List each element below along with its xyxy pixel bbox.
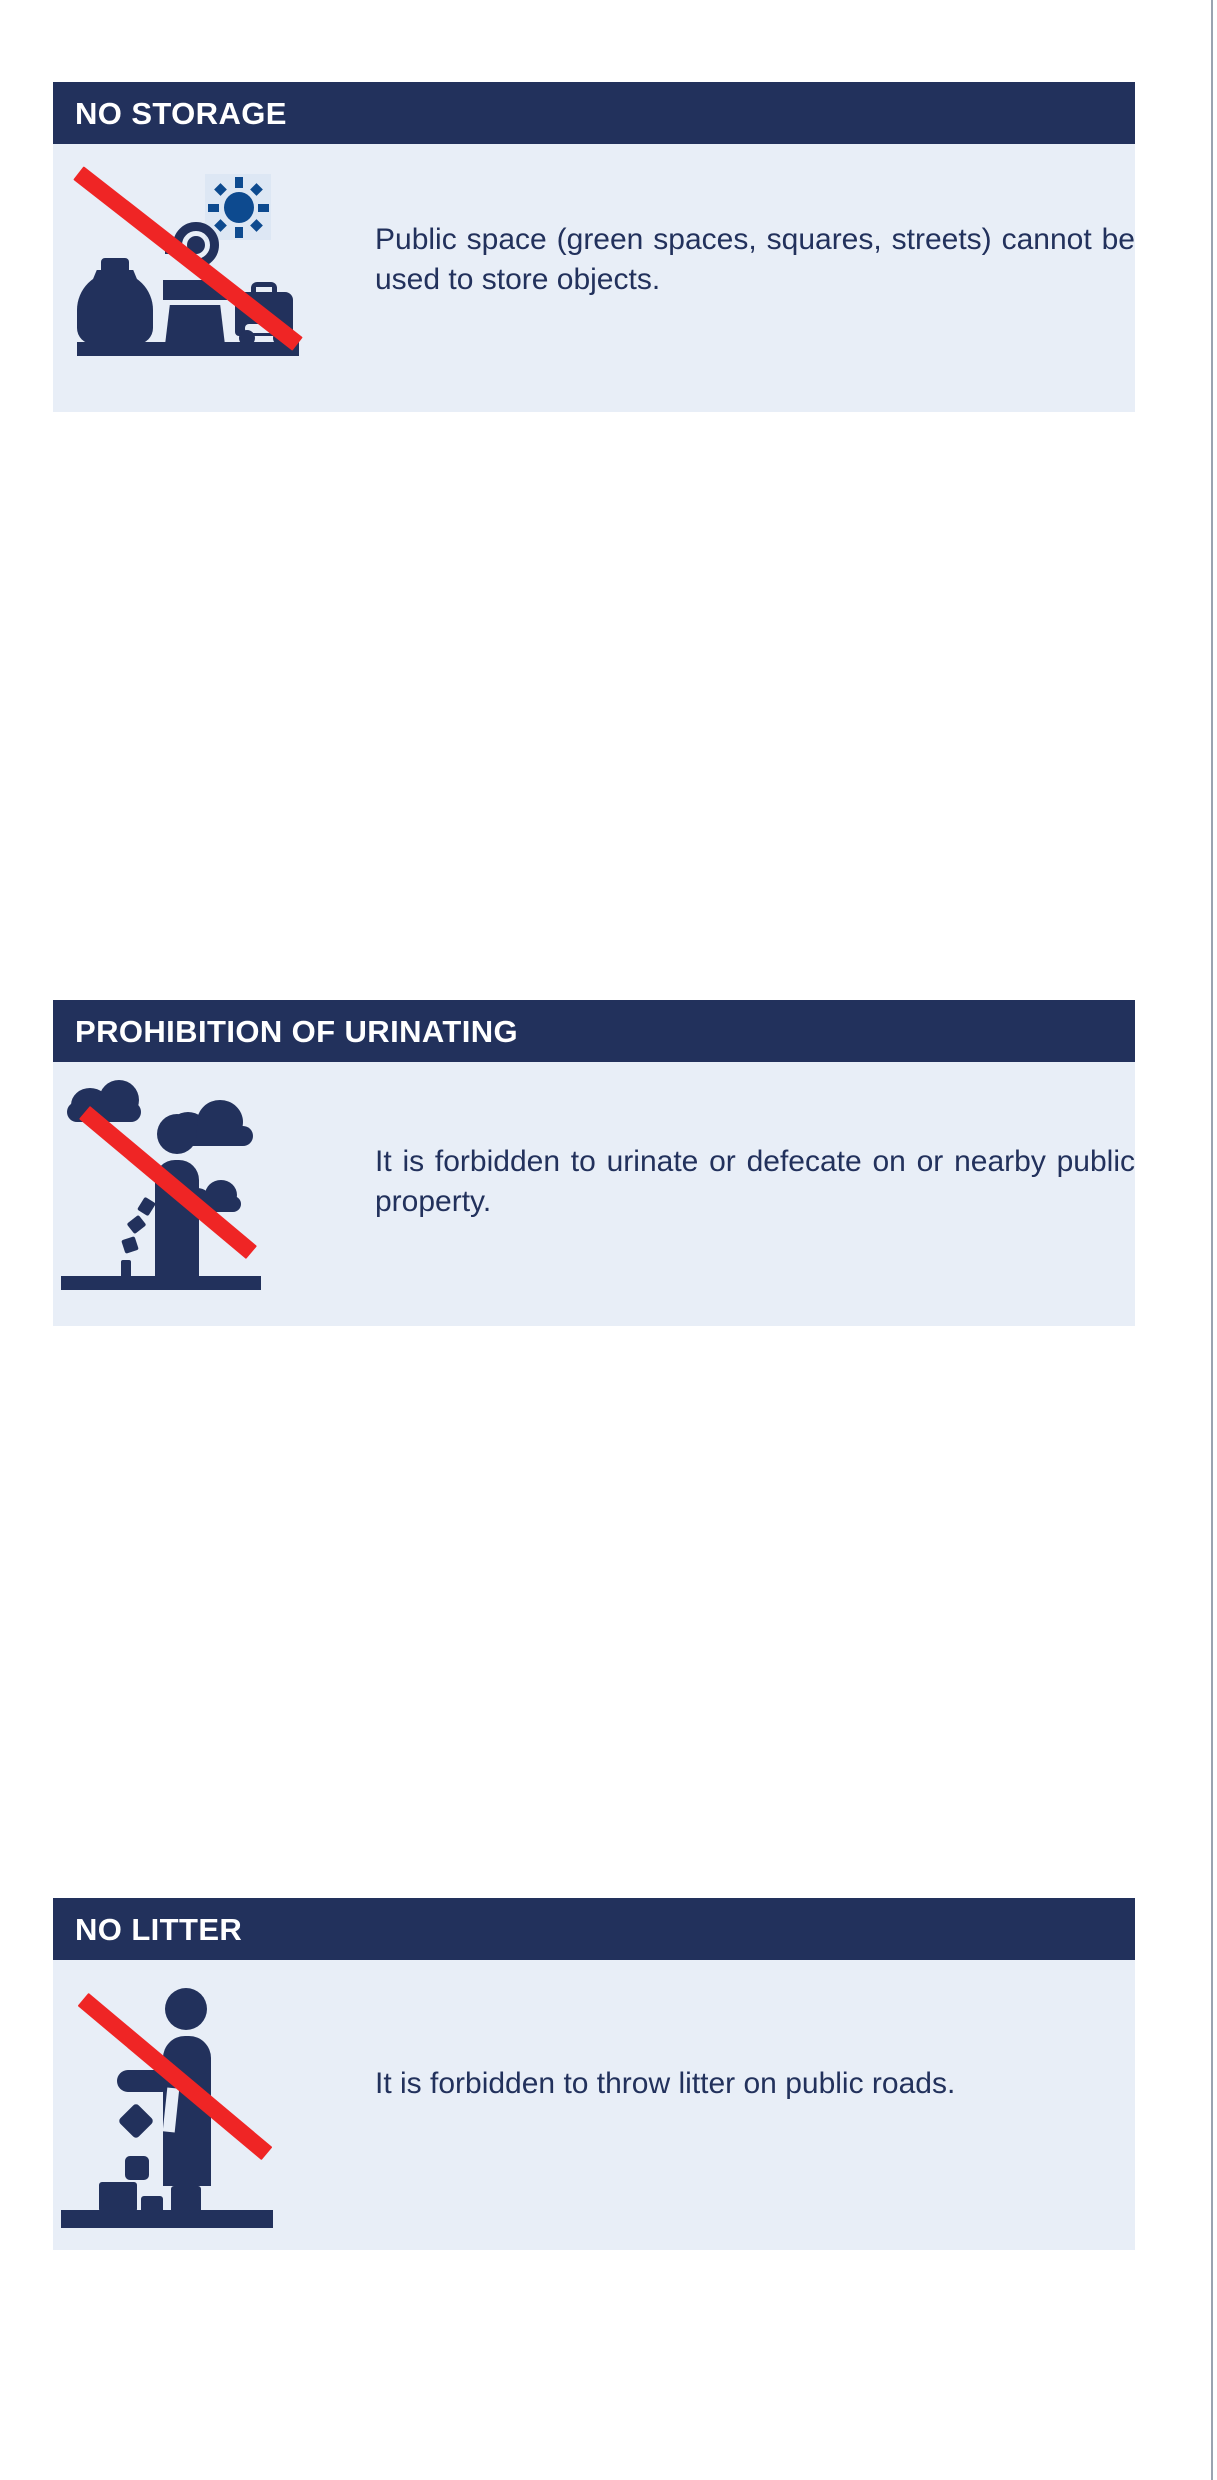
sun-core-icon bbox=[224, 192, 254, 223]
panel-body-no-litter: It is forbidden to throw litter on publi… bbox=[53, 1960, 1135, 2250]
panel-no-storage: NO STORAGE bbox=[53, 82, 1135, 412]
sun-ray-icon bbox=[250, 219, 263, 232]
sun-ray-icon bbox=[214, 219, 227, 232]
stream-dash-icon bbox=[127, 1215, 147, 1234]
sun-ray-icon bbox=[235, 177, 243, 188]
ground-line bbox=[61, 1276, 261, 1290]
panel-title-no-litter: NO LITTER bbox=[75, 1914, 242, 1945]
panel-text-no-storage: Public space (green spaces, squares, str… bbox=[375, 220, 1135, 300]
panel-title-prohibition-of-urinating: PROHIBITION OF URINATING bbox=[75, 1016, 518, 1047]
panel-body-no-storage: Public space (green spaces, squares, str… bbox=[53, 144, 1135, 412]
stream-dash-icon bbox=[137, 1197, 156, 1217]
person-icon bbox=[157, 1114, 197, 1154]
crate-icon bbox=[165, 305, 225, 345]
sun-ray-icon bbox=[208, 204, 219, 212]
sun-ray-icon bbox=[235, 227, 243, 238]
no-urinating-icon bbox=[53, 1062, 353, 1326]
panel-text-prohibition-of-urinating: It is forbidden to urinate or defecate o… bbox=[375, 1142, 1135, 1222]
panel-title-no-storage: NO STORAGE bbox=[75, 98, 287, 129]
page-edge-rule bbox=[1211, 0, 1213, 2480]
ground-line bbox=[77, 342, 299, 356]
sun-ray-icon bbox=[250, 183, 263, 196]
no-storage-icon bbox=[53, 144, 353, 412]
poster-page: NO STORAGE bbox=[0, 0, 1217, 2480]
falling-litter-icon bbox=[125, 2156, 149, 2180]
sun-ray-icon bbox=[258, 204, 269, 212]
ground-line bbox=[61, 2210, 273, 2228]
person-icon bbox=[165, 1988, 207, 2030]
falling-litter-icon bbox=[118, 2103, 155, 2140]
panel-header-no-litter: NO LITTER bbox=[53, 1898, 1135, 1960]
sun-ray-icon bbox=[214, 183, 227, 196]
panel-no-litter: NO LITTER It is forbidden to throw litte… bbox=[53, 1898, 1135, 2250]
sack-icon bbox=[91, 270, 139, 284]
panel-header-no-storage: NO STORAGE bbox=[53, 82, 1135, 144]
cloud-icon bbox=[63, 1080, 145, 1122]
panel-header-prohibition-of-urinating: PROHIBITION OF URINATING bbox=[53, 1000, 1135, 1062]
no-litter-icon bbox=[53, 1960, 353, 2250]
sun-icon bbox=[205, 174, 271, 240]
panel-body-prohibition-of-urinating: It is forbidden to urinate or defecate o… bbox=[53, 1062, 1135, 1326]
panel-prohibition-of-urinating: PROHIBITION OF URINATING bbox=[53, 1000, 1135, 1326]
panel-text-no-litter: It is forbidden to throw litter on publi… bbox=[375, 2064, 1135, 2104]
rubbish-pile-icon bbox=[99, 2182, 137, 2212]
stream-dash-icon bbox=[121, 1236, 139, 1254]
